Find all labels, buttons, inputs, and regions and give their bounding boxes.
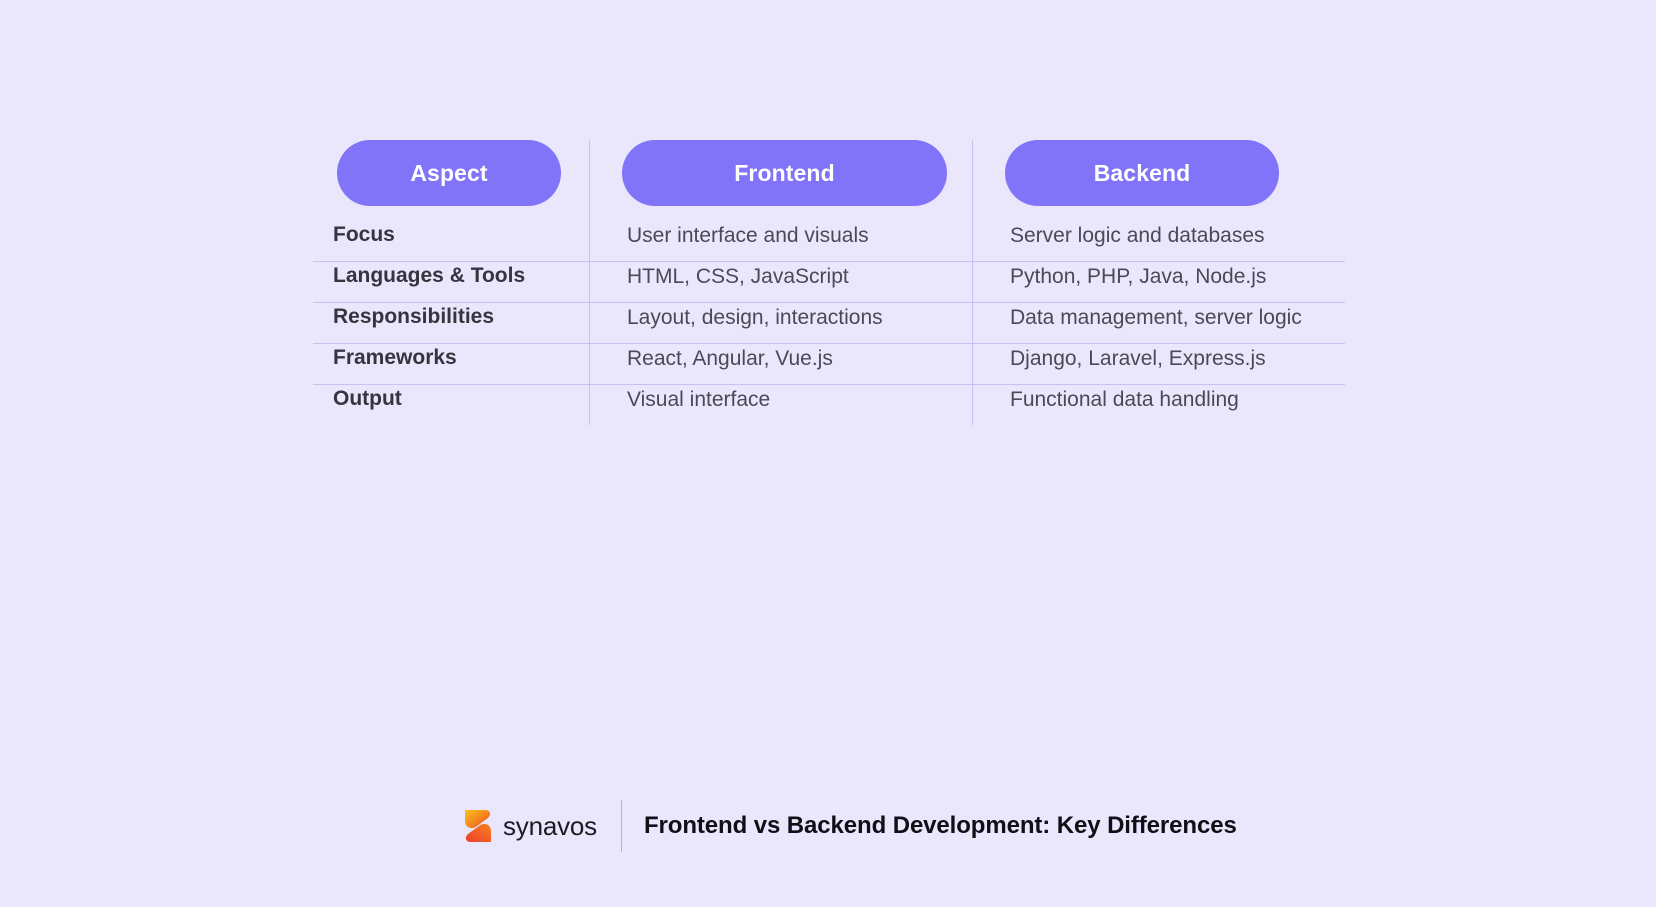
column-header-pill-aspect: Aspect: [337, 140, 561, 206]
row-aspect-label: Languages & Tools: [333, 262, 572, 290]
row-frontend-cell: React, Angular, Vue.js: [590, 344, 973, 384]
table-row: Focus User interface and visuals Server …: [313, 221, 1345, 261]
row-aspect-label: Focus: [333, 221, 572, 249]
header-cell-frontend: Frontend: [590, 140, 973, 206]
footer-divider: [621, 800, 622, 852]
comparison-table: Aspect Frontend Backend Focus User inter…: [313, 140, 1345, 425]
header-cell-aspect: Aspect: [313, 140, 590, 206]
table-row: Languages & Tools HTML, CSS, JavaScript …: [313, 261, 1345, 302]
table-header-row: Aspect Frontend Backend: [313, 140, 1345, 221]
table-row: Frameworks React, Angular, Vue.js Django…: [313, 343, 1345, 384]
row-frontend-value: React, Angular, Vue.js: [627, 344, 955, 374]
footer-title: Frontend vs Backend Development: Key Dif…: [644, 812, 1237, 840]
row-frontend-cell: Visual interface: [590, 385, 973, 425]
row-aspect-label: Frameworks: [333, 344, 572, 372]
header-cell-backend: Backend: [973, 140, 1345, 206]
row-backend-value: Server logic and databases: [1010, 221, 1327, 251]
row-aspect-label: Responsibilities: [333, 303, 572, 331]
row-backend-cell: Data management, server logic: [973, 303, 1345, 343]
column-header-pill-backend: Backend: [1005, 140, 1279, 206]
row-aspect-label: Output: [333, 385, 572, 413]
row-frontend-value: Visual interface: [627, 385, 955, 415]
row-frontend-cell: User interface and visuals: [590, 221, 973, 261]
table-row: Output Visual interface Functional data …: [313, 384, 1345, 425]
row-aspect-cell: Languages & Tools: [313, 262, 590, 302]
row-aspect-cell: Frameworks: [313, 344, 590, 384]
row-frontend-cell: HTML, CSS, JavaScript: [590, 262, 973, 302]
row-backend-value: Data management, server logic: [1010, 303, 1327, 333]
row-backend-value: Django, Laravel, Express.js: [1010, 344, 1327, 374]
brand-name: synavos: [503, 811, 597, 842]
row-aspect-cell: Focus: [313, 221, 590, 261]
row-backend-cell: Server logic and databases: [973, 221, 1345, 261]
row-backend-value: Functional data handling: [1010, 385, 1327, 415]
row-frontend-cell: Layout, design, interactions: [590, 303, 973, 343]
brand-lockup: synavos: [463, 808, 597, 844]
row-aspect-cell: Output: [313, 385, 590, 425]
infographic-page: Aspect Frontend Backend Focus User inter…: [0, 0, 1656, 907]
row-backend-value: Python, PHP, Java, Node.js: [1010, 262, 1327, 292]
row-frontend-value: Layout, design, interactions: [627, 303, 955, 333]
table-row: Responsibilities Layout, design, interac…: [313, 302, 1345, 343]
synavos-s-logo-icon: [463, 808, 493, 844]
row-backend-cell: Django, Laravel, Express.js: [973, 344, 1345, 384]
row-frontend-value: User interface and visuals: [627, 221, 955, 251]
column-header-pill-frontend: Frontend: [622, 140, 947, 206]
row-backend-cell: Python, PHP, Java, Node.js: [973, 262, 1345, 302]
row-frontend-value: HTML, CSS, JavaScript: [627, 262, 955, 292]
row-backend-cell: Functional data handling: [973, 385, 1345, 425]
footer: synavos Frontend vs Backend Development:…: [463, 800, 1237, 852]
table-grid: Aspect Frontend Backend Focus User inter…: [313, 140, 1345, 425]
row-aspect-cell: Responsibilities: [313, 303, 590, 343]
